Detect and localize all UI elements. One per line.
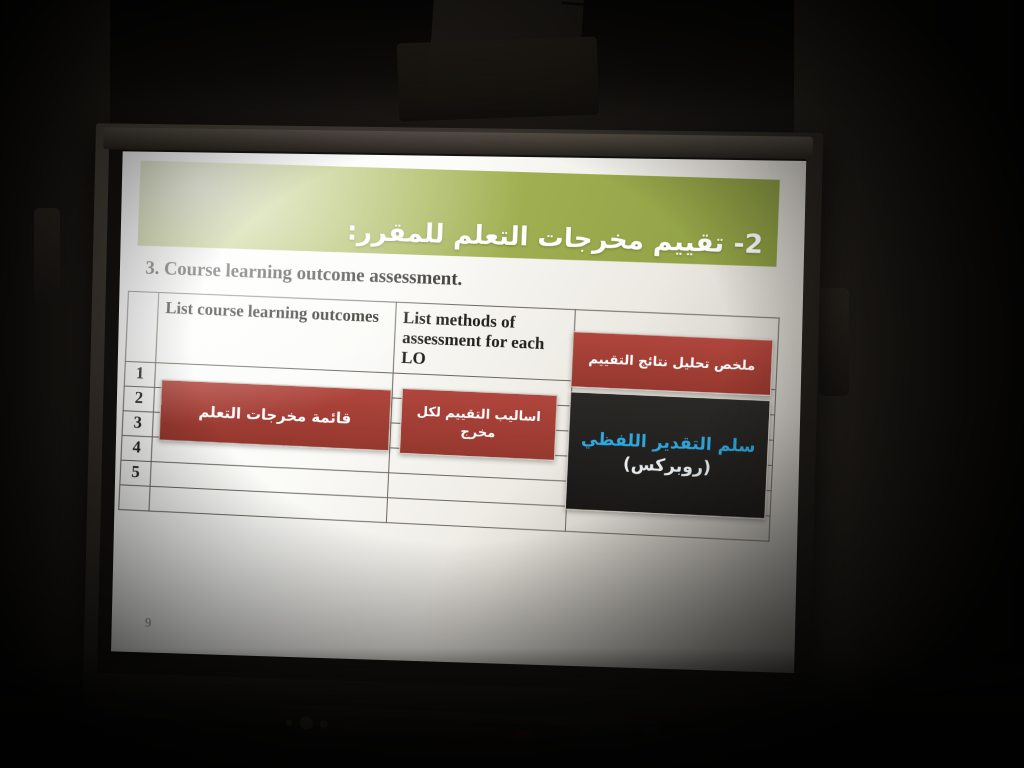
slide-title-banner: 2- تقييم مخرجات التعلم للمقرر: — [137, 160, 779, 266]
row-number-5: 5 — [120, 460, 151, 486]
projected-slide: 2- تقييم مخرجات التعلم للمقرر: 3. Course… — [111, 151, 806, 673]
assessment-table-wrapper: List course learning outcomes List metho… — [117, 291, 787, 571]
header-label-methods: List methods of assessment for each LO — [394, 303, 575, 381]
row-number-3: 3 — [122, 411, 153, 437]
row-number-2: 2 — [123, 386, 154, 412]
photo-scene: 2- تقييم مخرجات التعلم للمقرر: 3. Course… — [0, 0, 1024, 768]
header-cell-methods: List methods of assessment for each LO — [393, 302, 575, 381]
slide-number: 9 — [145, 615, 152, 631]
header-label-outcomes: List course learning outcomes — [158, 293, 396, 333]
row-number-4: 4 — [121, 436, 152, 462]
row-number-6 — [119, 485, 150, 511]
floor-shadow — [0, 648, 1024, 768]
header-cell-outcomes: List course learning outcomes — [156, 292, 397, 373]
callout-assessment-methods: اساليب التقييم لكل مخرج — [399, 388, 558, 461]
wall-speaker-left — [34, 208, 60, 303]
slide-subtitle: 3. Course learning outcome assessment. — [145, 258, 704, 300]
wall-speaker-right — [819, 288, 849, 396]
callout-rubric-line-2: (روبركس) — [622, 453, 711, 480]
slide-title-text: 2- تقييم مخرجات التعلم للمقرر: — [137, 210, 777, 267]
header-number-cell — [125, 291, 158, 363]
row-number-1: 1 — [124, 362, 155, 388]
projector-body — [397, 37, 600, 122]
callout-assessment-summary: ملخص تحليل نتائج التقييم — [570, 331, 773, 396]
callout-rubric: سلم التقدير اللفظي (روبركس) — [565, 391, 771, 519]
callout-outcomes-list: قائمة مخرجات التعلم — [159, 379, 392, 451]
